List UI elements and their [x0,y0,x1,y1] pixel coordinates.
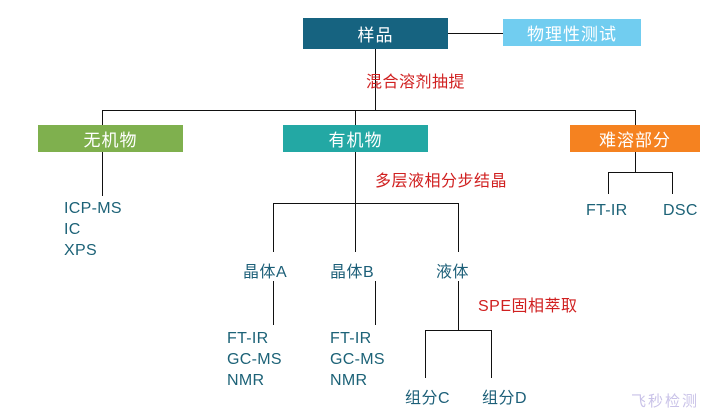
connector-drop-insoluble [635,110,636,125]
connector-insoluble-bus [608,172,672,173]
method-item: NMR [227,370,282,391]
connector-drop-organic [355,110,356,125]
flowchart-canvas: 样品 物理性测试 无机物 有机物 难溶部分 混合溶剂抽提 多层液相分步结晶 SP… [0,0,726,417]
label-component-c: 组分C [405,384,450,408]
connector-fraction-bus [102,110,635,111]
node-sample[interactable]: 样品 [303,18,448,49]
label-crystal-a: 晶体A [243,258,287,282]
method-item: GC-MS [227,349,282,370]
connector-drop-crystal-b [355,203,356,252]
label-crystal-b: 晶体B [330,258,374,282]
label-component-d: 组分D [482,384,527,408]
node-insoluble[interactable]: 难溶部分 [570,125,700,152]
connector-sample-to-physical-test [448,33,503,34]
node-inorganic[interactable]: 无机物 [38,125,183,152]
method-item: NMR [330,370,385,391]
connector-drop-insoluble-dsc [672,172,673,194]
connector-crystal-b-to-methods [375,281,376,325]
connector-drop-crystal-a [273,203,274,252]
connector-drop-inorganic [102,110,103,125]
method-item: IC [64,219,122,240]
method-insoluble-ftir: FT-IR [586,200,628,221]
connector-drop-liquid [458,203,459,252]
method-item: FT-IR [227,328,282,349]
method-item: FT-IR [586,200,628,221]
connector-liquid-stem [458,281,459,330]
connector-crystal-a-to-methods [273,281,274,325]
node-sample-label: 样品 [358,21,394,46]
method-list-crystal-b: FT-IR GC-MS NMR [330,328,385,391]
connector-drop-insoluble-ftir [608,172,609,194]
node-insoluble-label: 难溶部分 [599,126,671,151]
connector-organic-bus [273,203,458,204]
connector-insoluble-stem [635,152,636,172]
watermark: 飞秒检测 [631,390,699,411]
connector-component-bus [425,330,491,331]
method-item: XPS [64,240,122,261]
process-label-multilayer-crystallization: 多层液相分步结晶 [375,167,507,191]
node-inorganic-label: 无机物 [84,126,138,151]
method-item: GC-MS [330,349,385,370]
method-item: DSC [663,200,698,221]
label-liquid: 液体 [436,258,469,282]
process-label-mixed-solvent-extraction: 混合溶剂抽提 [366,68,465,92]
process-label-spe-extraction: SPE固相萃取 [478,292,578,316]
method-list-crystal-a: FT-IR GC-MS NMR [227,328,282,391]
method-item: ICP-MS [64,198,122,219]
node-physical-test[interactable]: 物理性测试 [503,19,641,46]
node-organic-label: 有机物 [329,126,383,151]
connector-inorganic-to-methods [102,152,103,196]
node-organic[interactable]: 有机物 [283,125,428,152]
connector-drop-component-c [425,330,426,378]
method-insoluble-dsc: DSC [663,200,698,221]
method-item: FT-IR [330,328,385,349]
node-physical-test-label: 物理性测试 [527,20,617,45]
connector-organic-stem [355,152,356,203]
method-list-inorganic: ICP-MS IC XPS [64,198,122,261]
connector-drop-component-d [491,330,492,378]
